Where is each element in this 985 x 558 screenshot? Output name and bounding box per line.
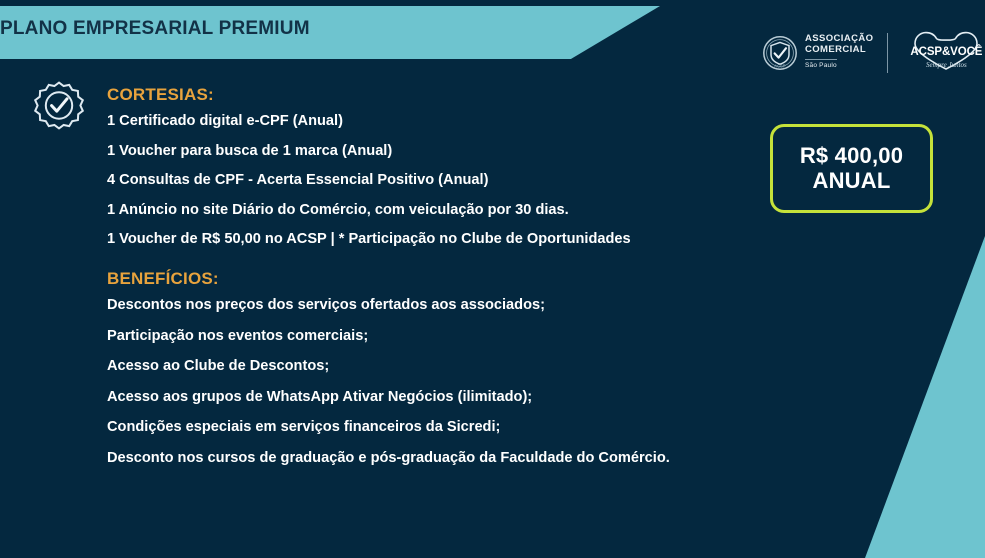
list-item: 1 Voucher de R$ 50,00 no ACSP | * Partic…: [107, 232, 767, 247]
right-teal-wedge: [865, 236, 985, 558]
price-badge: R$ 400,00 ANUAL: [770, 124, 933, 213]
cortesias-heading: CORTESIAS:: [107, 85, 767, 105]
section-cortesias: CORTESIAS: 1 Certificado digital e-CPF (…: [107, 85, 767, 247]
logo-acsp-line2: COMERCIAL: [805, 45, 873, 55]
price-amount: R$ 400,00: [800, 144, 903, 169]
page-title: PLANO EMPRESARIAL PREMIUM: [0, 18, 310, 40]
list-item: 1 Anúncio no site Diário do Comércio, co…: [107, 203, 767, 218]
list-item: 1 Certificado digital e-CPF (Anual): [107, 114, 767, 129]
list-item: Acesso ao Clube de Descontos;: [107, 359, 767, 374]
list-item: Participação nos eventos comerciais;: [107, 329, 767, 344]
list-item: Desconto nos cursos de graduação e pós-g…: [107, 451, 767, 466]
list-item: Acesso aos grupos de WhatsApp Ativar Neg…: [107, 390, 767, 405]
logo-acsp-line1: ASSOCIAÇÃO: [805, 34, 873, 44]
list-item: Descontos nos preços dos serviços oferta…: [107, 298, 767, 313]
plan-content: CORTESIAS: 1 Certificado digital e-CPF (…: [107, 85, 767, 482]
acsp-seal-icon: ACSP: [762, 35, 798, 71]
logo-acsp-e-voce: ACSP&VOCÊ Sempre Juntos: [902, 29, 985, 77]
logo-associacao-comercial: ACSP ASSOCIAÇÃO COMERCIAL São Paulo: [762, 34, 873, 71]
logo-acsp-voce-tagline: Sempre Juntos: [902, 61, 985, 69]
verified-check-seal-icon: [33, 80, 85, 132]
logo-strip: ACSP ASSOCIAÇÃO COMERCIAL São Paulo ACSP…: [762, 28, 985, 78]
logo-acsp-wordmark: ASSOCIAÇÃO COMERCIAL São Paulo: [805, 34, 873, 71]
logo-divider: [887, 33, 888, 73]
list-item: 4 Consultas de CPF - Acerta Essencial Po…: [107, 173, 767, 188]
cortesias-list: 1 Certificado digital e-CPF (Anual) 1 Vo…: [107, 114, 767, 247]
beneficios-heading: BENEFÍCIOS:: [107, 269, 767, 289]
slide-plano-empresarial-premium: PLANO EMPRESARIAL PREMIUM ACSP ASSOCIAÇÃ…: [0, 0, 985, 558]
logo-acsp-voce-label: ACSP&VOCÊ: [902, 46, 985, 58]
svg-text:ACSP: ACSP: [774, 64, 786, 69]
list-item: 1 Voucher para busca de 1 marca (Anual): [107, 144, 767, 159]
beneficios-list: Descontos nos preços dos serviços oferta…: [107, 298, 767, 466]
logo-acsp-line3: São Paulo: [805, 59, 837, 69]
section-beneficios: BENEFÍCIOS: Descontos nos preços dos ser…: [107, 269, 767, 466]
price-period: ANUAL: [813, 169, 891, 194]
list-item: Condições especiais em serviços financei…: [107, 420, 767, 435]
